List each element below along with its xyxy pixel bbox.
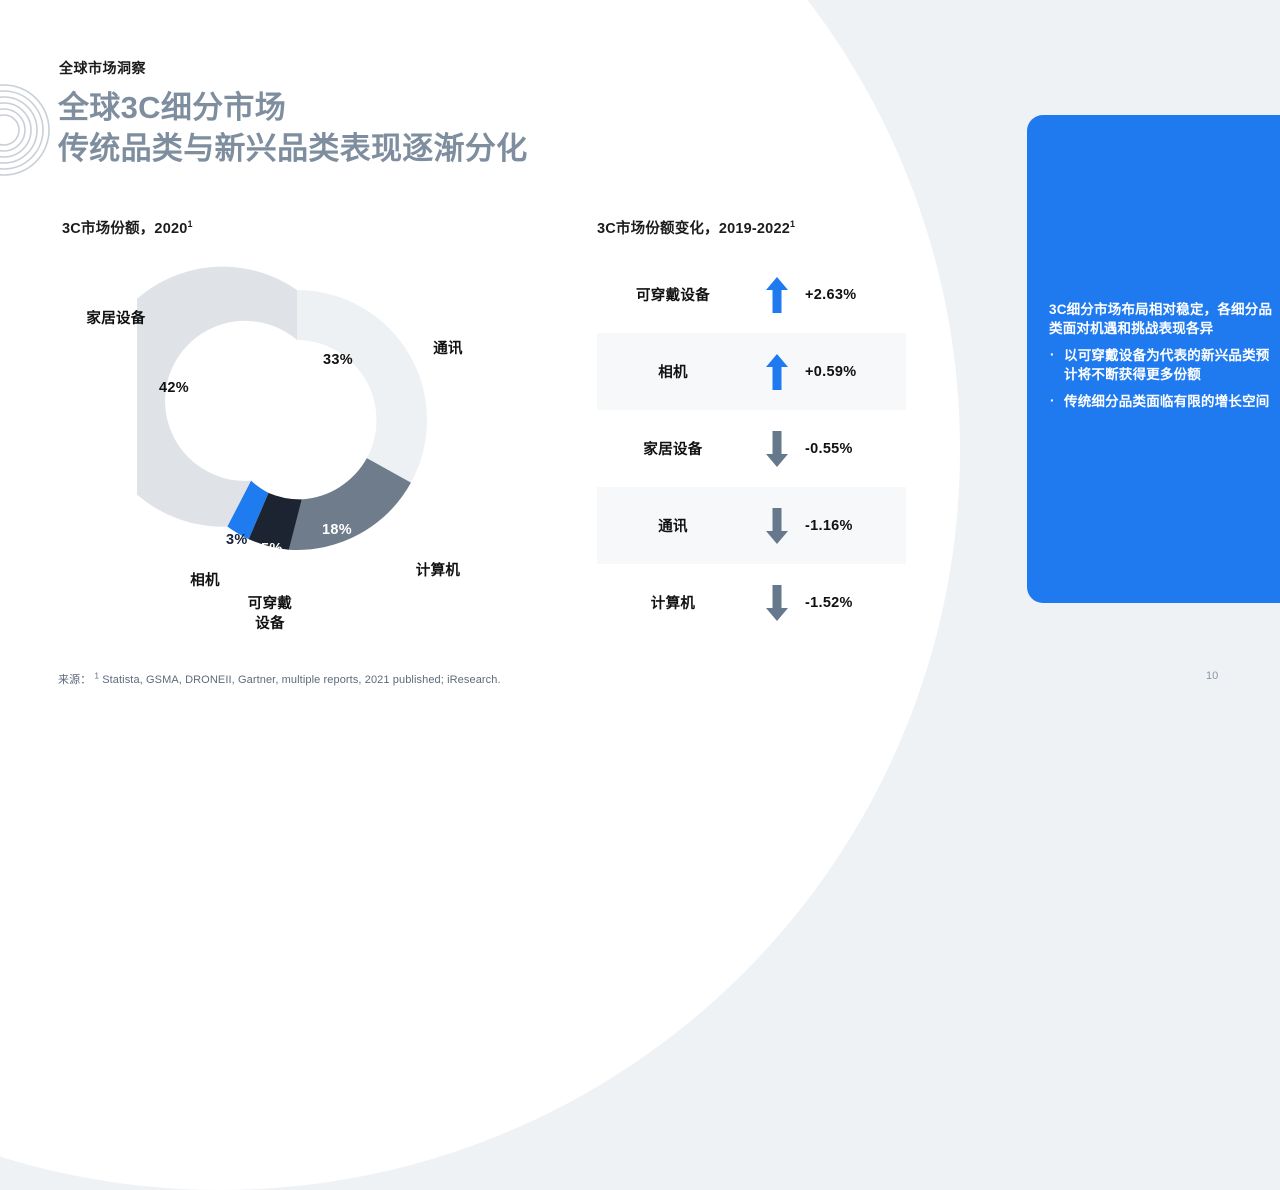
donut-label-jiaju: 家居设备 — [68, 310, 164, 330]
donut-section-heading-text: 3C市场份额，2020 — [62, 221, 188, 237]
donut-value-jiaju: 42% — [159, 380, 189, 396]
row-category-label: 计算机 — [597, 592, 749, 613]
donut-chart: 33% 18% 5% 3% 42% — [137, 260, 457, 580]
row-change-value: +2.63% — [805, 287, 856, 303]
source-note: 来源： 1 Statista, GSMA, DRONEII, Gartner, … — [58, 671, 501, 687]
row-change-value: -1.52% — [805, 595, 853, 611]
list-item-text: 以可穿戴设备为代表的新兴品类预计将不断获得更多份额 — [1064, 348, 1270, 383]
donut-value-tongxun: 33% — [323, 352, 353, 368]
table-row: 相机 +0.59% — [597, 333, 906, 410]
donut-slice-jiaju — [137, 267, 297, 527]
source-footnote-marker: 1 — [94, 671, 99, 680]
donut-slice-tongxun — [297, 290, 427, 483]
callout-heading: 3C细分市场布局相对稳定，各细分品类面对机遇和挑战表现各异 — [1049, 300, 1275, 339]
row-change-value: -1.16% — [805, 518, 853, 534]
arrow-down-icon — [749, 508, 805, 544]
source-label: 来源： — [58, 674, 91, 686]
list-item: · 传统细分品类面临有限的增长空间 — [1049, 392, 1275, 412]
bullet-glyph-icon: · — [1050, 345, 1055, 365]
donut-label-kechuandai: 可穿戴设备 — [228, 595, 312, 634]
concentric-rings-decoration-icon — [0, 82, 52, 178]
row-category-label: 通讯 — [597, 515, 749, 536]
row-category-label: 家居设备 — [597, 438, 749, 459]
bullet-glyph-icon: · — [1050, 391, 1055, 411]
donut-label-xiangji: 相机 — [178, 572, 232, 592]
change-heading-footnote-marker: 1 — [790, 219, 795, 229]
arrow-up-icon — [749, 354, 805, 390]
donut-chart-svg — [137, 260, 457, 580]
table-row: 通讯 -1.16% — [597, 487, 906, 564]
change-section-heading: 3C市场份额变化，2019-20221 — [597, 217, 795, 238]
eyebrow-label: 全球市场洞察 — [59, 58, 146, 78]
donut-value-xiangji: 3% — [226, 532, 248, 548]
row-category-label: 可穿戴设备 — [597, 284, 749, 305]
table-row: 计算机 -1.52% — [597, 564, 906, 641]
slide-canvas: 全球市场洞察 全球3C细分市场 传统品类与新兴品类表现逐渐分化 3C市场份额，2… — [0, 0, 1280, 720]
arrow-up-icon — [749, 277, 805, 313]
market-share-change-table: 可穿戴设备 +2.63% 相机 +0.59% 家居设备 -0.55% 通讯 — [597, 256, 906, 641]
table-row: 可穿戴设备 +2.63% — [597, 256, 906, 333]
donut-section-heading: 3C市场份额，20201 — [62, 217, 193, 238]
arrow-down-icon — [749, 431, 805, 467]
arrow-down-icon — [749, 585, 805, 621]
page-number: 10 — [1206, 670, 1218, 682]
table-row: 家居设备 -0.55% — [597, 410, 906, 487]
change-section-heading-text: 3C市场份额变化，2019-2022 — [597, 221, 790, 237]
list-item-text: 传统细分品类面临有限的增长空间 — [1064, 394, 1270, 409]
callout-bullet-list: · 以可穿戴设备为代表的新兴品类预计将不断获得更多份额 · 传统细分品类面临有限… — [1049, 346, 1275, 419]
donut-heading-footnote-marker: 1 — [188, 219, 193, 229]
source-text: Statista, GSMA, DRONEII, Gartner, multip… — [102, 674, 500, 686]
insight-callout-card: 3C细分市场布局相对稳定，各细分品类面对机遇和挑战表现各异 · 以可穿戴设备为代… — [1027, 115, 1280, 603]
row-change-value: -0.55% — [805, 441, 853, 457]
donut-value-kechuandai: 5% — [261, 541, 283, 557]
donut-label-tongxun: 通讯 — [413, 340, 483, 360]
donut-value-jisuanji: 18% — [322, 522, 352, 538]
row-change-value: +0.59% — [805, 364, 856, 380]
page-title: 全球3C细分市场 传统品类与新兴品类表现逐渐分化 — [58, 88, 528, 170]
donut-label-jisuanji: 计算机 — [390, 562, 486, 582]
row-category-label: 相机 — [597, 361, 749, 382]
list-item: · 以可穿戴设备为代表的新兴品类预计将不断获得更多份额 — [1049, 346, 1275, 385]
